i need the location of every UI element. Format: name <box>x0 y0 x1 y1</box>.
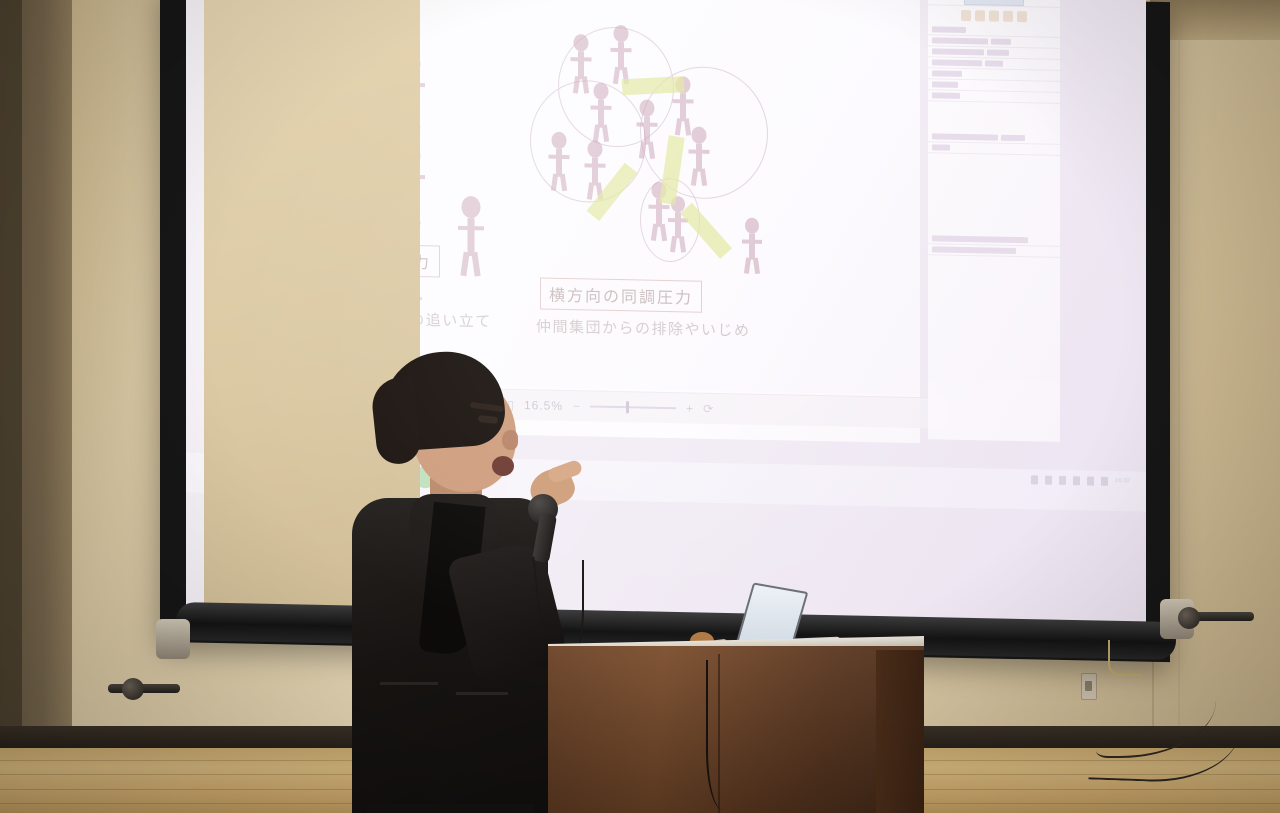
photo-vignette <box>0 0 1280 813</box>
lecture-hall-photo: 今日の生活世界 （2）子どもにかかる二つの圧力 <box>0 0 1280 813</box>
